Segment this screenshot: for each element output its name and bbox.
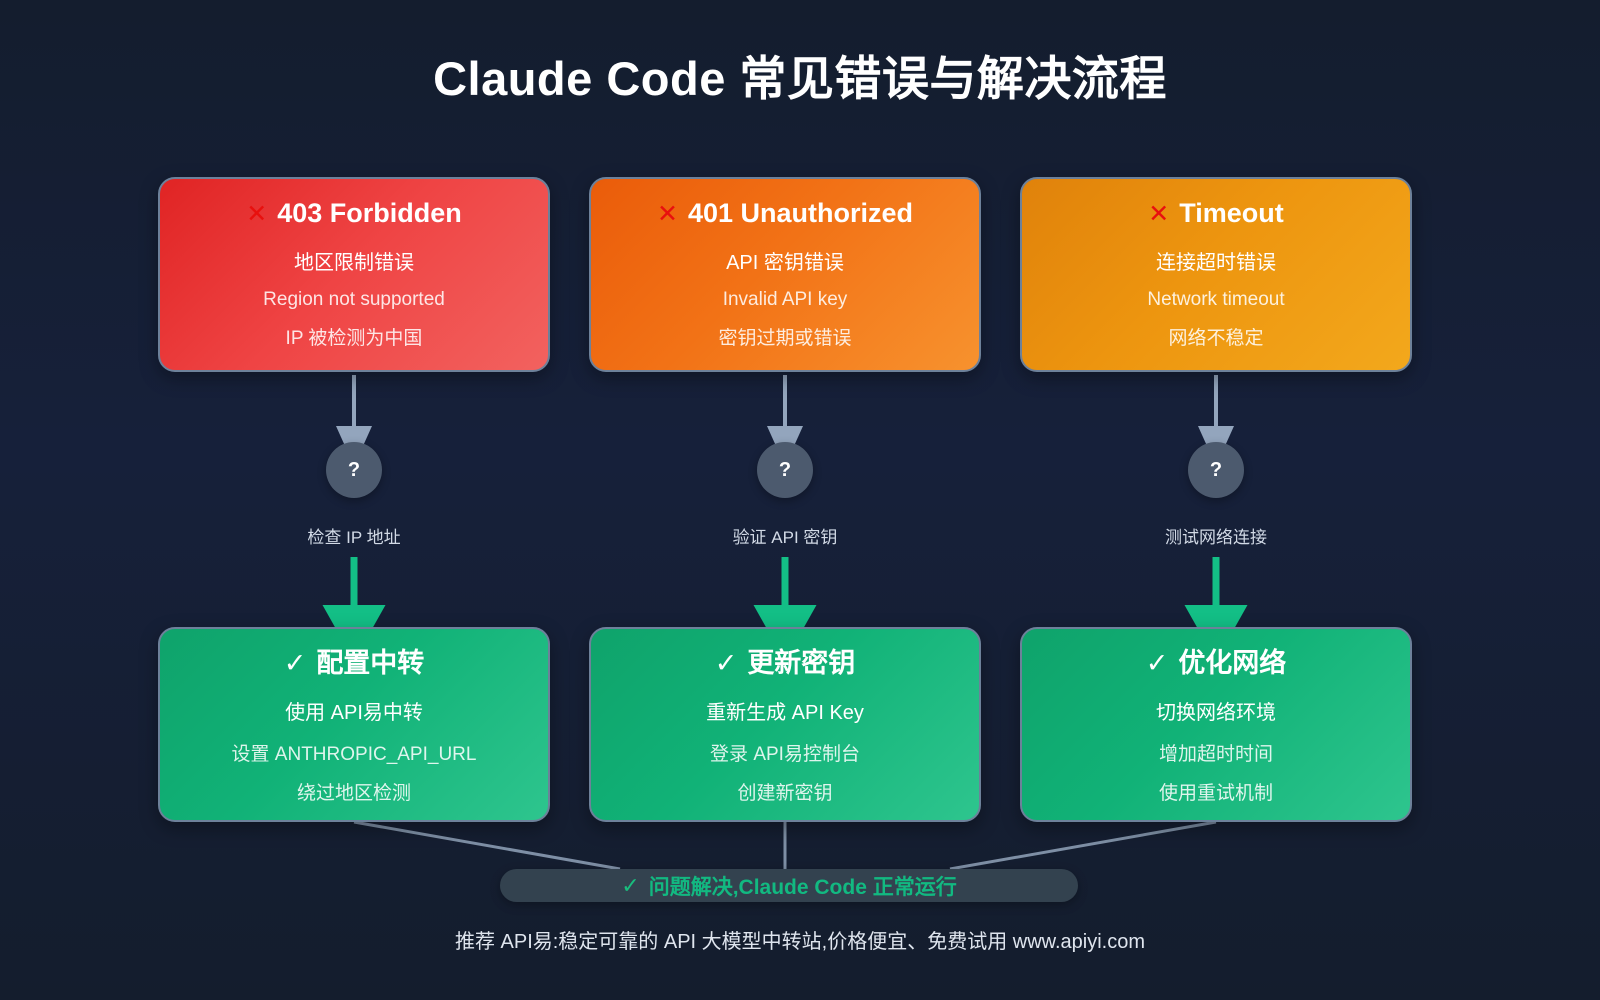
error-detail-1: Network timeout [1147,289,1284,311]
flowchart-canvas: Claude Code 常见错误与解决流程 ✕ 403 Forbidden [0,0,1600,1000]
solution-subtitle: 切换网络环境 [1156,696,1276,725]
error-detail-2: 网络不稳定 [1168,323,1263,350]
cross-mark-icon: ✕ [1148,202,1169,227]
solution-title: 更新密钥 [747,650,855,677]
footer-note: 推荐 API易:稳定可靠的 API 大模型中转站,价格便宜、免费试用 www.a… [0,925,1600,954]
error-subtitle: 连接超时错误 [1156,246,1276,275]
solution-detail-1: 设置 ANTHROPIC_API_URL [232,739,477,766]
error-subtitle: 地区限制错误 [294,246,414,275]
error-card-title-row: ✕ 401 Unauthorized [657,200,913,227]
solution-card-update-key[interactable]: ✓ 更新密钥 重新生成 API Key 登录 API易控制台 创建新密钥 [589,627,981,822]
solution-card-proxy[interactable]: ✓ 配置中转 使用 API易中转 设置 ANTHROPIC_API_URL 绕过… [158,627,550,822]
cross-mark-icon: ✕ [657,202,678,227]
step-label-verify-key: 验证 API 密钥 [635,523,935,548]
solution-card-title-row: ✓ 配置中转 [284,650,425,677]
solution-detail-2: 绕过地区检测 [297,778,411,805]
solution-card-title-row: ✓ 优化网络 [1146,650,1287,677]
check-mark-icon: ✓ [284,650,307,677]
error-detail-2: 密钥过期或错误 [718,323,851,350]
error-detail-1: Region not supported [263,289,445,311]
solution-title: 优化网络 [1178,650,1286,677]
error-title: 403 Forbidden [277,200,462,227]
solution-card-optimize-network[interactable]: ✓ 优化网络 切换网络环境 增加超时时间 使用重试机制 [1020,627,1412,822]
step-label-test-network: 测试网络连接 [1066,523,1366,548]
question-mark-icon: ? [1210,459,1222,482]
error-subtitle: API 密钥错误 [726,246,844,275]
solution-subtitle: 使用 API易中转 [285,696,423,725]
check-mark-icon: ✓ [621,875,639,897]
check-mark-icon: ✓ [1146,650,1169,677]
solution-subtitle: 重新生成 API Key [706,696,864,725]
error-card-403[interactable]: ✕ 403 Forbidden 地区限制错误 Region not suppor… [158,177,550,372]
decision-node-test-network[interactable]: ? [1188,442,1244,498]
cross-mark-icon: ✕ [246,202,267,227]
check-mark-icon: ✓ [715,650,738,677]
solution-detail-2: 使用重试机制 [1159,778,1273,805]
decision-node-check-ip[interactable]: ? [326,442,382,498]
summary-text: 问题解决,Claude Code 正常运行 [649,871,957,901]
error-title: Timeout [1179,200,1284,227]
error-title: 401 Unauthorized [688,200,913,227]
solution-detail-1: 登录 API易控制台 [710,739,860,766]
solution-card-title-row: ✓ 更新密钥 [715,650,856,677]
decision-node-verify-key[interactable]: ? [757,442,813,498]
error-card-timeout[interactable]: ✕ Timeout 连接超时错误 Network timeout 网络不稳定 [1020,177,1412,372]
error-card-401[interactable]: ✕ 401 Unauthorized API 密钥错误 Invalid API … [589,177,981,372]
question-mark-icon: ? [348,459,360,482]
connector-layer [0,0,1600,1000]
error-detail-1: Invalid API key [723,289,848,311]
summary-badge: ✓ 问题解决,Claude Code 正常运行 [500,869,1078,902]
solution-detail-1: 增加超时时间 [1159,739,1273,766]
question-mark-icon: ? [779,459,791,482]
solution-detail-2: 创建新密钥 [737,778,832,805]
error-detail-2: IP 被检测为中国 [286,323,423,350]
solution-title: 配置中转 [316,650,424,677]
error-card-title-row: ✕ 403 Forbidden [246,200,461,227]
step-label-check-ip: 检查 IP 地址 [204,523,504,548]
error-card-title-row: ✕ Timeout [1148,200,1283,227]
